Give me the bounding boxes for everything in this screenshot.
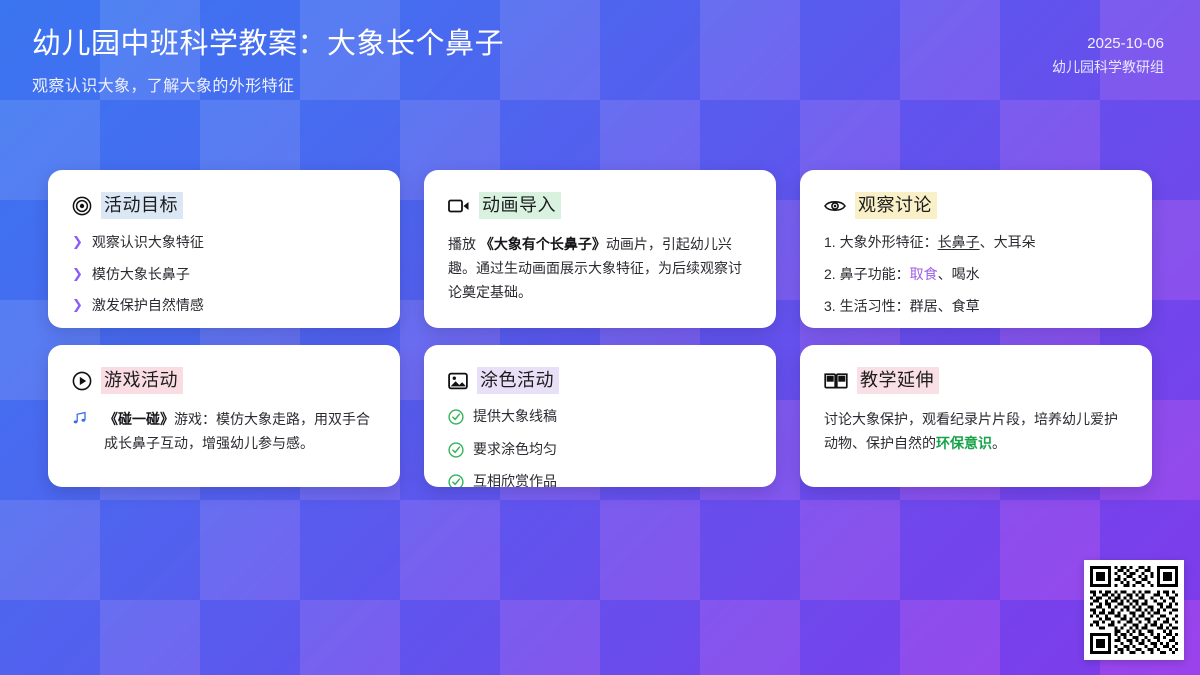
paragraph-part-bold: 《大象有个长鼻子》: [480, 236, 606, 252]
list-item: 3. 生活习性：群居、食草: [824, 296, 1128, 317]
check-circle-icon: [448, 442, 464, 458]
paragraph-part-bold: 《碰一碰》: [104, 411, 174, 427]
header-right: 2025-10-06 幼儿园科学教研组: [1052, 26, 1164, 78]
coloring-check-list: 提供大象线稿 要求涂色均匀 互相欣赏作品: [448, 407, 752, 487]
video-camera-icon: [448, 197, 470, 215]
list-item-label: 1. 大象外形特征：: [824, 234, 938, 250]
observation-list: 1. 大象外形特征：长鼻子、大耳朵 2. 鼻子功能：取食、喝水 3. 生活习性：…: [824, 232, 1128, 317]
list-item-accent: 取食: [910, 266, 938, 282]
qr-code-image: [1090, 566, 1178, 654]
card-teaching-extension: 教学延伸 讨论大象保护，观看纪录片片段，培养幼儿爱护动物、保护自然的环保意识。: [800, 345, 1152, 487]
list-item: 2. 鼻子功能：取食、喝水: [824, 264, 1128, 285]
card-paragraph: 讨论大象保护，观看纪录片片段，培养幼儿爱护动物、保护自然的环保意识。: [824, 407, 1128, 455]
card-paragraph: 播放 《大象有个长鼻子》动画片，引起幼儿兴趣。通过生动画面展示大象特征，为后续观…: [448, 232, 752, 304]
card-header: 游戏活动: [72, 367, 376, 394]
list-item: 互相欣赏作品: [448, 472, 752, 487]
play-circle-icon: [72, 371, 92, 391]
card-header: 涂色活动: [448, 367, 752, 394]
chevron-right-icon: ❯: [72, 295, 83, 315]
card-title: 教学延伸: [857, 367, 939, 394]
card-grid: 活动目标 ❯观察认识大象特征 ❯模仿大象长鼻子 ❯激发保护自然情感 动画导入 播…: [48, 170, 1152, 487]
check-circle-icon: [448, 474, 464, 487]
list-item-label: 要求涂色均匀: [473, 440, 557, 460]
paragraph-part: 播放: [448, 236, 480, 252]
list-item-label: 2. 鼻子功能：: [824, 266, 910, 282]
card-header: 观察讨论: [824, 192, 1128, 219]
header-left: 幼儿园中班科学教案：大象长个鼻子 观察认识大象，了解大象的外形特征: [32, 26, 504, 96]
list-item: 1. 大象外形特征：长鼻子、大耳朵: [824, 232, 1128, 253]
list-item: ❯观察认识大象特征: [72, 232, 376, 252]
slide-root: 幼儿园中班科学教案：大象长个鼻子 观察认识大象，了解大象的外形特征 2025-1…: [0, 0, 1200, 675]
check-circle-icon: [448, 409, 464, 425]
music-note-icon: [72, 409, 88, 433]
goal-list: ❯观察认识大象特征 ❯模仿大象长鼻子 ❯激发保护自然情感: [72, 232, 376, 315]
page-title: 幼儿园中班科学教案：大象长个鼻子: [32, 26, 504, 62]
slide-header: 幼儿园中班科学教案：大象长个鼻子 观察认识大象，了解大象的外形特征 2025-1…: [0, 0, 1200, 118]
list-item: 要求涂色均匀: [448, 440, 752, 460]
paragraph-part: 。: [992, 435, 1006, 451]
paragraph-part-accent: 环保意识: [936, 435, 992, 451]
list-item: ❯模仿大象长鼻子: [72, 264, 376, 284]
list-item-label: 提供大象线稿: [473, 407, 557, 427]
header-organization: 幼儿园科学教研组: [1052, 56, 1164, 78]
card-paragraph: 《碰一碰》游戏：模仿大象走路，用双手合成长鼻子互动，增强幼儿参与感。: [72, 407, 376, 455]
chevron-right-icon: ❯: [72, 264, 83, 284]
list-item-label: 激发保护自然情感: [92, 295, 204, 315]
book-icon: [824, 372, 848, 390]
list-item: 提供大象线稿: [448, 407, 752, 427]
page-subtitle: 观察认识大象，了解大象的外形特征: [32, 72, 504, 96]
list-item-label: 、大耳朵: [980, 234, 1036, 250]
list-item: ❯激发保护自然情感: [72, 295, 376, 315]
card-title: 动画导入: [479, 192, 561, 219]
card-game-activity: 游戏活动 《碰一碰》游戏：模仿大象走路，用双手合成长鼻子互动，增强幼儿参与感。: [48, 345, 400, 487]
card-header: 动画导入: [448, 192, 752, 219]
paragraph-body: 《碰一碰》游戏：模仿大象走路，用双手合成长鼻子互动，增强幼儿参与感。: [104, 407, 376, 455]
header-date: 2025-10-06: [1052, 32, 1164, 56]
list-item-label: 模仿大象长鼻子: [92, 264, 190, 284]
list-item-label: 观察认识大象特征: [92, 232, 204, 252]
card-activity-goals: 活动目标 ❯观察认识大象特征 ❯模仿大象长鼻子 ❯激发保护自然情感: [48, 170, 400, 328]
card-title: 活动目标: [101, 192, 183, 219]
list-item-label: 、喝水: [938, 266, 980, 282]
card-animation-intro: 动画导入 播放 《大象有个长鼻子》动画片，引起幼儿兴趣。通过生动画面展示大象特征…: [424, 170, 776, 328]
list-item-label: 3. 生活习性：群居、食草: [824, 298, 980, 314]
card-coloring-activity: 涂色活动 提供大象线稿 要求涂色均匀: [424, 345, 776, 487]
card-header: 教学延伸: [824, 367, 1128, 394]
chevron-right-icon: ❯: [72, 232, 83, 252]
card-title: 涂色活动: [477, 367, 559, 394]
image-icon: [448, 371, 468, 391]
card-title: 游戏活动: [101, 367, 183, 394]
list-item-underline: 长鼻子: [938, 234, 980, 250]
card-observation-discussion: 观察讨论 1. 大象外形特征：长鼻子、大耳朵 2. 鼻子功能：取食、喝水 3. …: [800, 170, 1152, 328]
target-icon: [72, 196, 92, 216]
card-title: 观察讨论: [855, 192, 937, 219]
eye-icon: [824, 198, 846, 214]
qr-code[interactable]: [1084, 560, 1184, 660]
card-header: 活动目标: [72, 192, 376, 219]
list-item-label: 互相欣赏作品: [473, 472, 557, 487]
